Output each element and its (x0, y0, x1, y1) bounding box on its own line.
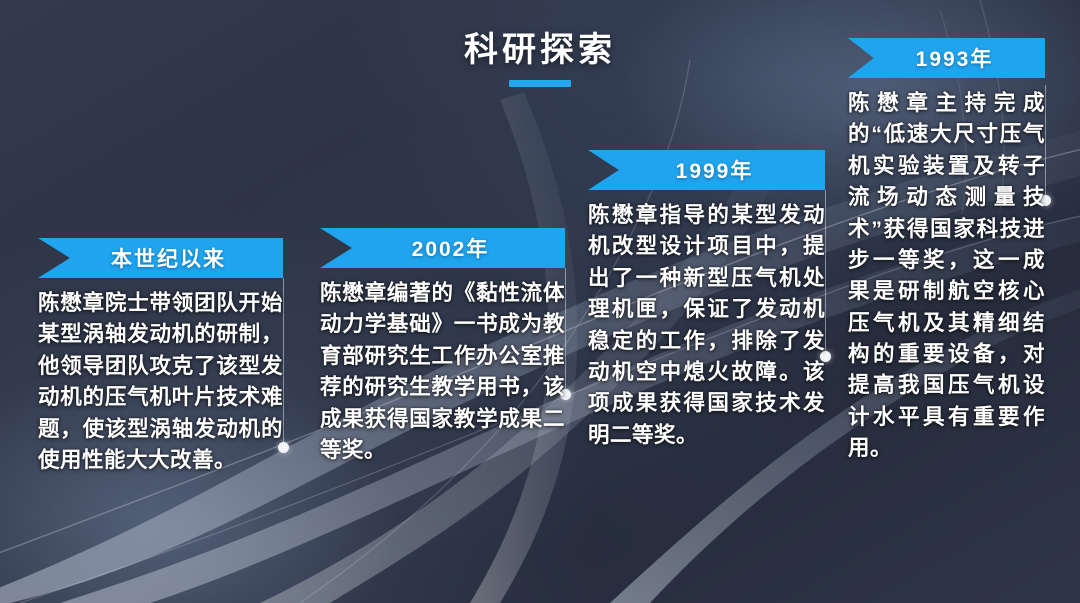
slide-canvas: 科研探索 本世纪以来 陈懋章院士带领团队开始某型涡轴发动机的研制，他领导团队攻克… (0, 0, 1080, 603)
timeline-body-4: 陈懋章主持完成的“低速大尺寸压气机实验装置及转子流场动态测量技术”获得国家科技进… (848, 88, 1045, 465)
timeline-banner-1[interactable]: 本世纪以来 (38, 238, 283, 278)
timeline-banner-label: 1999年 (660, 155, 754, 185)
timeline-body-1: 陈懋章院士带领团队开始某型涡轴发动机的研制，他领导团队攻克了该型发动机的压气机叶… (38, 288, 283, 476)
timeline-body-2: 陈懋章编著的《黏性流体动力学基础》一书成为教育部研究生工作办公室推荐的研究生教学… (320, 278, 565, 466)
title-underline (509, 80, 571, 87)
timeline-body-3: 陈懋章指导的某型发动机改型设计项目中，提出了一种新型压气机处理机匣，保证了发动机… (588, 200, 825, 451)
timeline-column-2: 2002年 陈懋章编著的《黏性流体动力学基础》一书成为教育部研究生工作办公室推荐… (320, 228, 565, 466)
connector-line (825, 190, 826, 362)
connector-line (565, 268, 566, 400)
connector-line (283, 278, 284, 453)
timeline-banner-label: 本世纪以来 (95, 243, 226, 273)
page-title: 科研探索 (464, 22, 616, 71)
page-title-block: 科研探索 (0, 22, 1080, 87)
timeline-banner-label: 2002年 (396, 233, 490, 263)
timeline-column-3: 1999年 陈懋章指导的某型发动机改型设计项目中，提出了一种新型压气机处理机匣，… (588, 150, 825, 451)
timeline-column-4: 1993年 陈懋章主持完成的“低速大尺寸压气机实验装置及转子流场动态测量技术”获… (848, 38, 1045, 465)
timeline-banner-3[interactable]: 1999年 (588, 150, 825, 190)
timeline-column-1: 本世纪以来 陈懋章院士带领团队开始某型涡轴发动机的研制，他领导团队攻克了该型发动… (38, 238, 283, 476)
timeline-banner-2[interactable]: 2002年 (320, 228, 565, 268)
connector-line (1045, 85, 1046, 205)
